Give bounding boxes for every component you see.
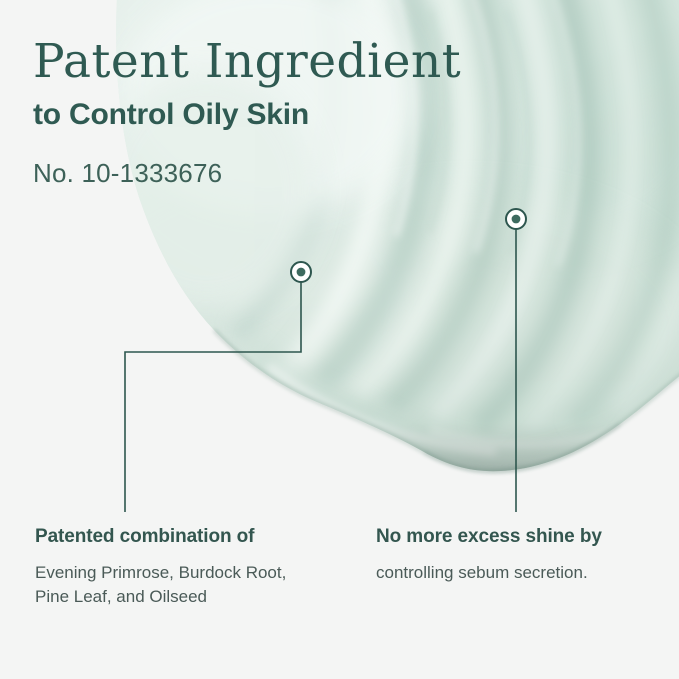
patent-ingredient-poster: Patent Ingredient to Control Oily Skin N… [0,0,679,679]
callout-caption-shine: No more excess shine by controlling sebu… [376,524,666,585]
callout-caption-ingredients: Patented combination of Evening Primrose… [35,524,335,609]
callout-title-ingredients: Patented combination of [35,524,335,551]
callout-marker-shine[interactable] [506,209,527,230]
callout-body-ingredients: Evening Primrose, Burdock Root, Pine Lea… [35,561,335,609]
callout-marker-ingredients[interactable] [291,262,312,283]
callout-body-line: Evening Primrose, Burdock Root, [35,561,335,585]
callout-body-shine: controlling sebum secretion. [376,561,666,585]
callout-body-line: Pine Leaf, and Oilseed [35,585,335,609]
callout-leader-line-ingredients [125,282,301,512]
callout-body-line: controlling sebum secretion. [376,561,666,585]
callout-title-shine: No more excess shine by [376,524,666,551]
